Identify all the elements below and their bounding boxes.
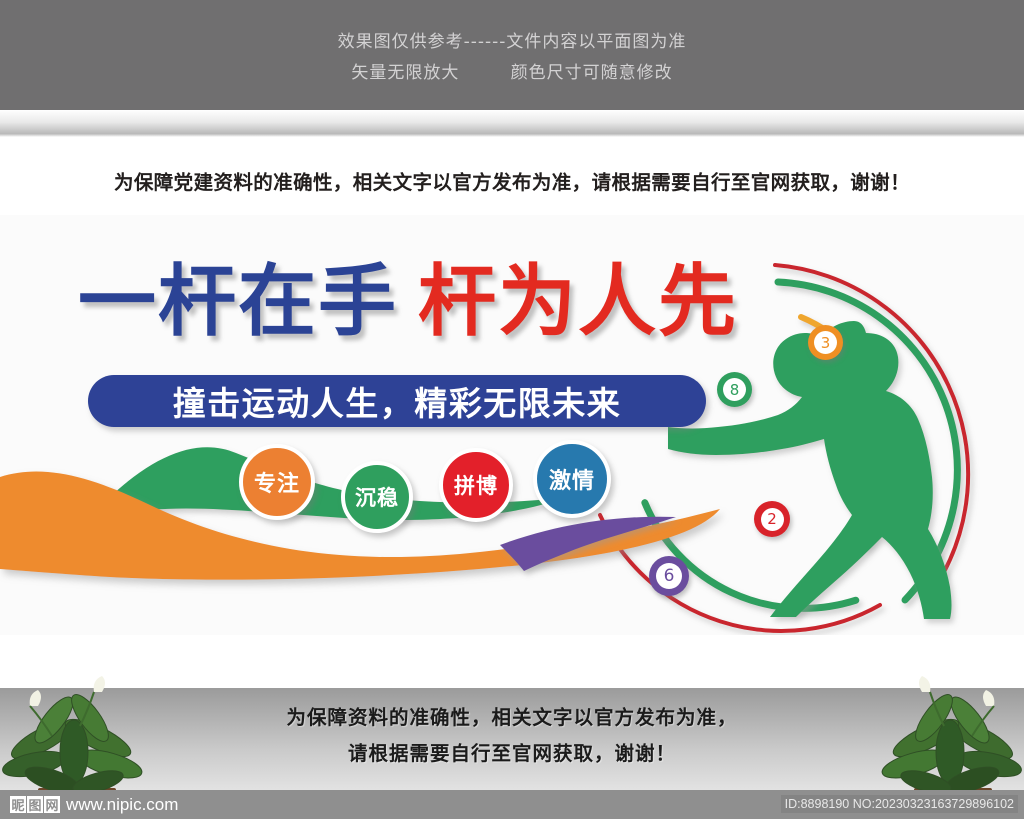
value-badge-label: 沉稳 [355, 482, 399, 512]
value-badge-pinbo: 拼博 [439, 448, 513, 522]
value-badge-chenwen: 沉稳 [341, 461, 413, 533]
page-title: 一杆在手杆为人先 [78, 263, 738, 341]
value-badge-label: 激情 [549, 463, 595, 495]
top-fade-divider [0, 110, 1024, 137]
value-badge-jiqing: 激情 [533, 440, 611, 518]
subtitle-banner: 撞击运动人生，精彩无限未来 [88, 375, 706, 427]
top-banner-line-1: 效果图仅供参考------文件内容以平面图为准 [338, 27, 687, 52]
value-badge-zhuanzhu: 专注 [239, 444, 315, 520]
plant-leaves-right [879, 689, 1023, 798]
headline-red-text: 杆为人先 [418, 257, 738, 347]
value-badge-label: 专注 [254, 466, 300, 498]
billiard-ball-number: 6 [656, 563, 682, 589]
value-badge-label: 拼博 [454, 470, 498, 500]
headline-blue-text: 一杆在手 [78, 257, 398, 347]
top-banner-line-2: 矢量无限放大 颜色尺寸可随意修改 [351, 58, 672, 83]
nipic-logo-char-2: 图 [27, 796, 43, 813]
top-banner: 效果图仅供参考------文件内容以平面图为准 矢量无限放大 颜色尺寸可随意修改 [0, 0, 1024, 110]
billiards-player-silhouette [668, 321, 952, 619]
subtitle-text: 撞击运动人生，精彩无限未来 [173, 377, 622, 425]
billiard-ball-2: 2 [754, 501, 790, 537]
billiard-ball-8: 8 [717, 372, 752, 407]
billiard-ball-number: 2 [761, 508, 784, 531]
billiard-ball-number: 8 [723, 378, 746, 401]
nipic-logo-char-3: 网 [44, 796, 60, 813]
poster-page: 效果图仅供参考------文件内容以平面图为准 矢量无限放大 颜色尺寸可随意修改… [0, 0, 1024, 819]
nipic-logo-char-1: 昵 [10, 796, 26, 813]
watermark-bar: 昵 图 网 www.nipic.com ID:8898190 NO:202303… [0, 790, 1024, 819]
billiard-ball-3: 3 [808, 325, 843, 360]
nipic-logo: 昵 图 网 [10, 796, 60, 813]
nipic-url: www.nipic.com [66, 795, 178, 815]
notice-text: 为保障党建资料的准确性，相关文字以官方发布为准，请根据需要自行至官网获取，谢谢！ [0, 166, 1024, 195]
plant-leaves-left [0, 689, 144, 798]
poster-artboard: 一杆在手杆为人先 撞击运动人生，精彩无限未来 [0, 215, 1024, 635]
wave-purple [500, 517, 676, 571]
watermark-id-text: ID:8898190 NO:20230323163729896102 [781, 795, 1018, 813]
billiard-ball-number: 3 [814, 331, 837, 354]
billiard-ball-6: 6 [649, 556, 689, 596]
